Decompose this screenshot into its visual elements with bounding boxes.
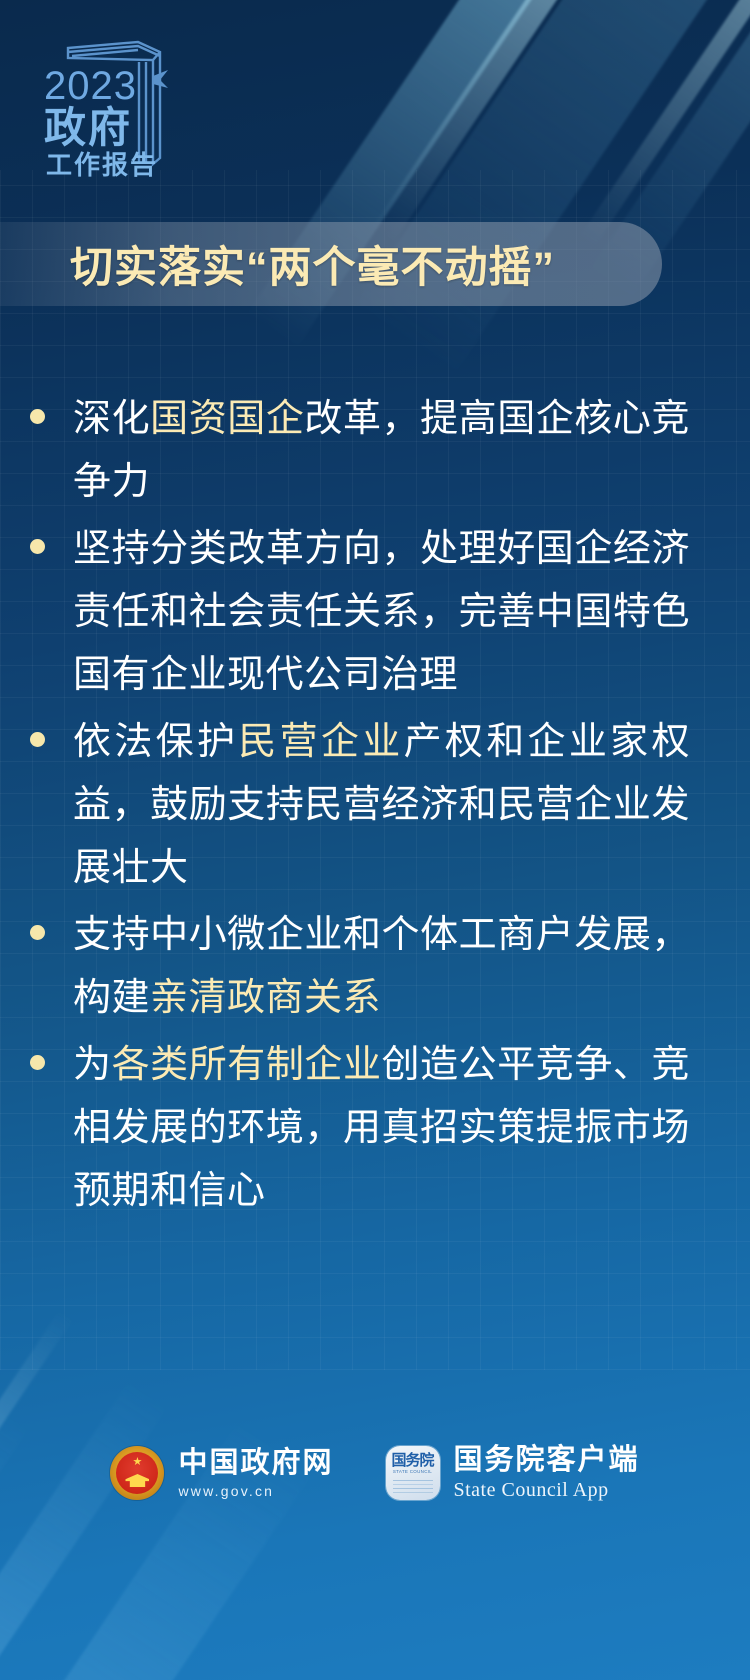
bullet-dot-icon [30, 409, 45, 424]
bullet-dot-icon [30, 539, 45, 554]
highlighted-phrase: 各类所有制企业 [112, 1044, 382, 1086]
gov-logo-block: ★ 中国政府网 www.gov.cn [110, 1446, 333, 1500]
masthead-year: 2023 [44, 66, 137, 106]
list-item-text: 支持中小微企业和个体工商户发展，构建亲清政商关系 [73, 904, 690, 1030]
plain-phrase: 坚持分类改革方向，处理好国企经济责任和社会责任关系，完善中国特色国有企业现代公司… [73, 528, 690, 696]
app-name-en: State Council App [454, 1479, 640, 1502]
masthead-line2: 工作报告 [46, 150, 158, 180]
masthead-logo: 2023 政府 工作报告 [42, 40, 192, 180]
masthead-line1: 政府 [44, 106, 132, 150]
page-title: 切实落实“两个毫不动摇” [70, 233, 555, 295]
app-icon-en-label: STATE COUNCIL [393, 1469, 432, 1475]
bullet-list: 深化国资国企改革，提高国企核心竞争力坚持分类改革方向，处理好国企经济责任和社会责… [30, 388, 690, 1227]
highlighted-phrase: 民营企业 [238, 721, 403, 763]
app-icon-building-glyph [393, 1477, 433, 1497]
footer: ★ 中国政府网 www.gov.cn 国务院 STATE COUNCIL 国务院… [0, 1444, 750, 1502]
plain-phrase: 为 [73, 1044, 112, 1086]
state-council-app-icon: 国务院 STATE COUNCIL [386, 1446, 440, 1500]
list-item-text: 坚持分类改革方向，处理好国企经济责任和社会责任关系，完善中国特色国有企业现代公司… [73, 518, 690, 707]
highlighted-phrase: 国资国企 [150, 398, 304, 440]
list-item-text: 为各类所有制企业创造公平竞争、竞相发展的环境，用真招实策提振市场预期和信心 [73, 1034, 690, 1223]
title-banner: 切实落实“两个毫不动摇” [0, 222, 662, 306]
plain-phrase: 依法保护 [73, 721, 238, 763]
bullet-dot-icon [30, 1055, 45, 1070]
national-emblem-icon: ★ [110, 1446, 164, 1500]
list-item-text: 深化国资国企改革，提高国企核心竞争力 [73, 388, 690, 514]
bullet-dot-icon [30, 925, 45, 940]
plain-phrase: 深化 [73, 398, 150, 440]
gov-site-name: 中国政府网 [178, 1447, 333, 1480]
list-item: 为各类所有制企业创造公平竞争、竞相发展的环境，用真招实策提振市场预期和信心 [30, 1034, 690, 1223]
highlighted-phrase: 亲清政商关系 [150, 977, 381, 1019]
list-item: 支持中小微企业和个体工商户发展，构建亲清政商关系 [30, 904, 690, 1030]
app-name-cn: 国务院客户端 [454, 1444, 640, 1477]
app-icon-cn-label: 国务院 [391, 1453, 433, 1468]
gov-site-url: www.gov.cn [178, 1483, 333, 1499]
list-item: 坚持分类改革方向，处理好国企经济责任和社会责任关系，完善中国特色国有企业现代公司… [30, 518, 690, 707]
list-item-text: 依法保护民营企业产权和企业家权益，鼓励支持民营经济和民营企业发展壮大 [73, 711, 690, 900]
bullet-dot-icon [30, 732, 45, 747]
list-item: 深化国资国企改革，提高国企核心竞争力 [30, 388, 690, 514]
list-item: 依法保护民营企业产权和企业家权益，鼓励支持民营经济和民营企业发展壮大 [30, 711, 690, 900]
app-logo-block: 国务院 STATE COUNCIL 国务院客户端 State Council A… [386, 1444, 640, 1502]
poster-root: 2023 政府 工作报告 切实落实“两个毫不动摇” 深化国资国企改革，提高国企核… [0, 0, 750, 1680]
